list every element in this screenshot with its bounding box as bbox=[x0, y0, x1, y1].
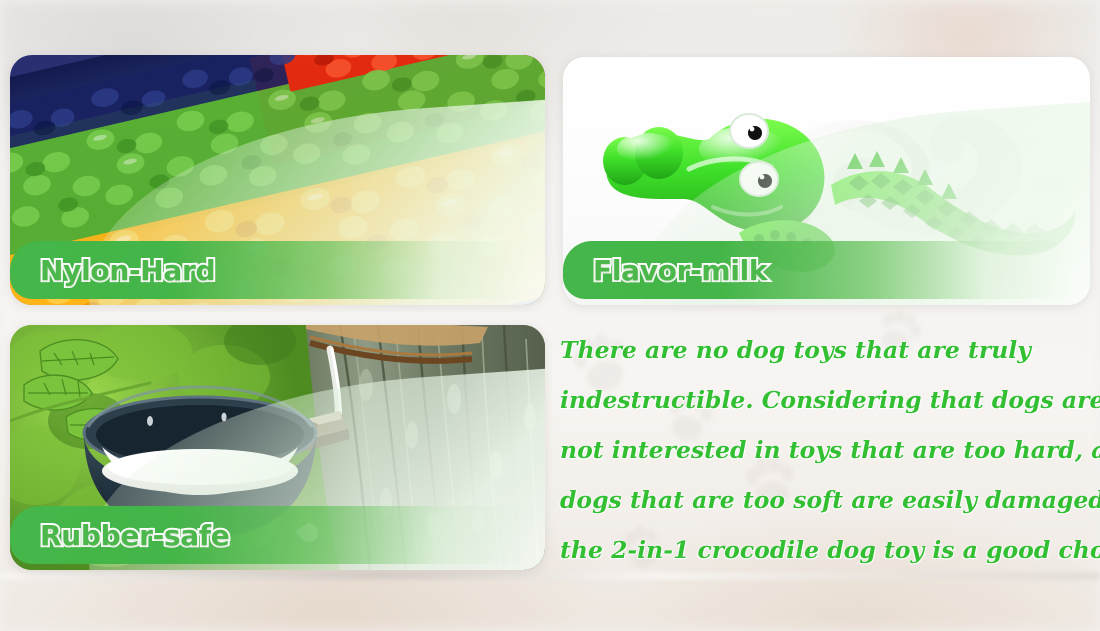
feature-card-rubber[interactable]: Rubber-safe bbox=[10, 325, 545, 570]
card-label-banner-flavor: Flavor-milk bbox=[563, 241, 1090, 299]
card-label-rubber: Rubber-safe bbox=[40, 519, 229, 552]
copy-line: indestructible. Considering that dogs ar… bbox=[560, 386, 1092, 414]
card-label-nylon: Nylon-Hard bbox=[40, 254, 215, 287]
card-label-banner-rubber: Rubber-safe bbox=[10, 506, 545, 564]
crocodile-eye-left bbox=[730, 114, 768, 148]
copy-line: not interested in toys that are too hard… bbox=[560, 436, 1092, 464]
copy-line: dogs that are too soft are easily damage… bbox=[560, 486, 1092, 514]
feature-card-flavor[interactable]: Flavor-milk bbox=[563, 57, 1090, 305]
feature-card-nylon[interactable]: Nylon-Hard bbox=[10, 55, 545, 305]
copy-line: the 2-in-1 crocodile dog toy is a good c… bbox=[560, 536, 1092, 564]
crocodile-eye-right bbox=[740, 162, 778, 196]
product-feature-banner: Nylon-Hard bbox=[0, 0, 1100, 631]
marketing-copy-block: There are no dog toys that are truly ind… bbox=[560, 332, 1092, 570]
card-label-banner-nylon: Nylon-Hard bbox=[10, 241, 545, 299]
card-label-flavor: Flavor-milk bbox=[593, 254, 767, 287]
copy-line: There are no dog toys that are truly bbox=[560, 336, 1092, 364]
